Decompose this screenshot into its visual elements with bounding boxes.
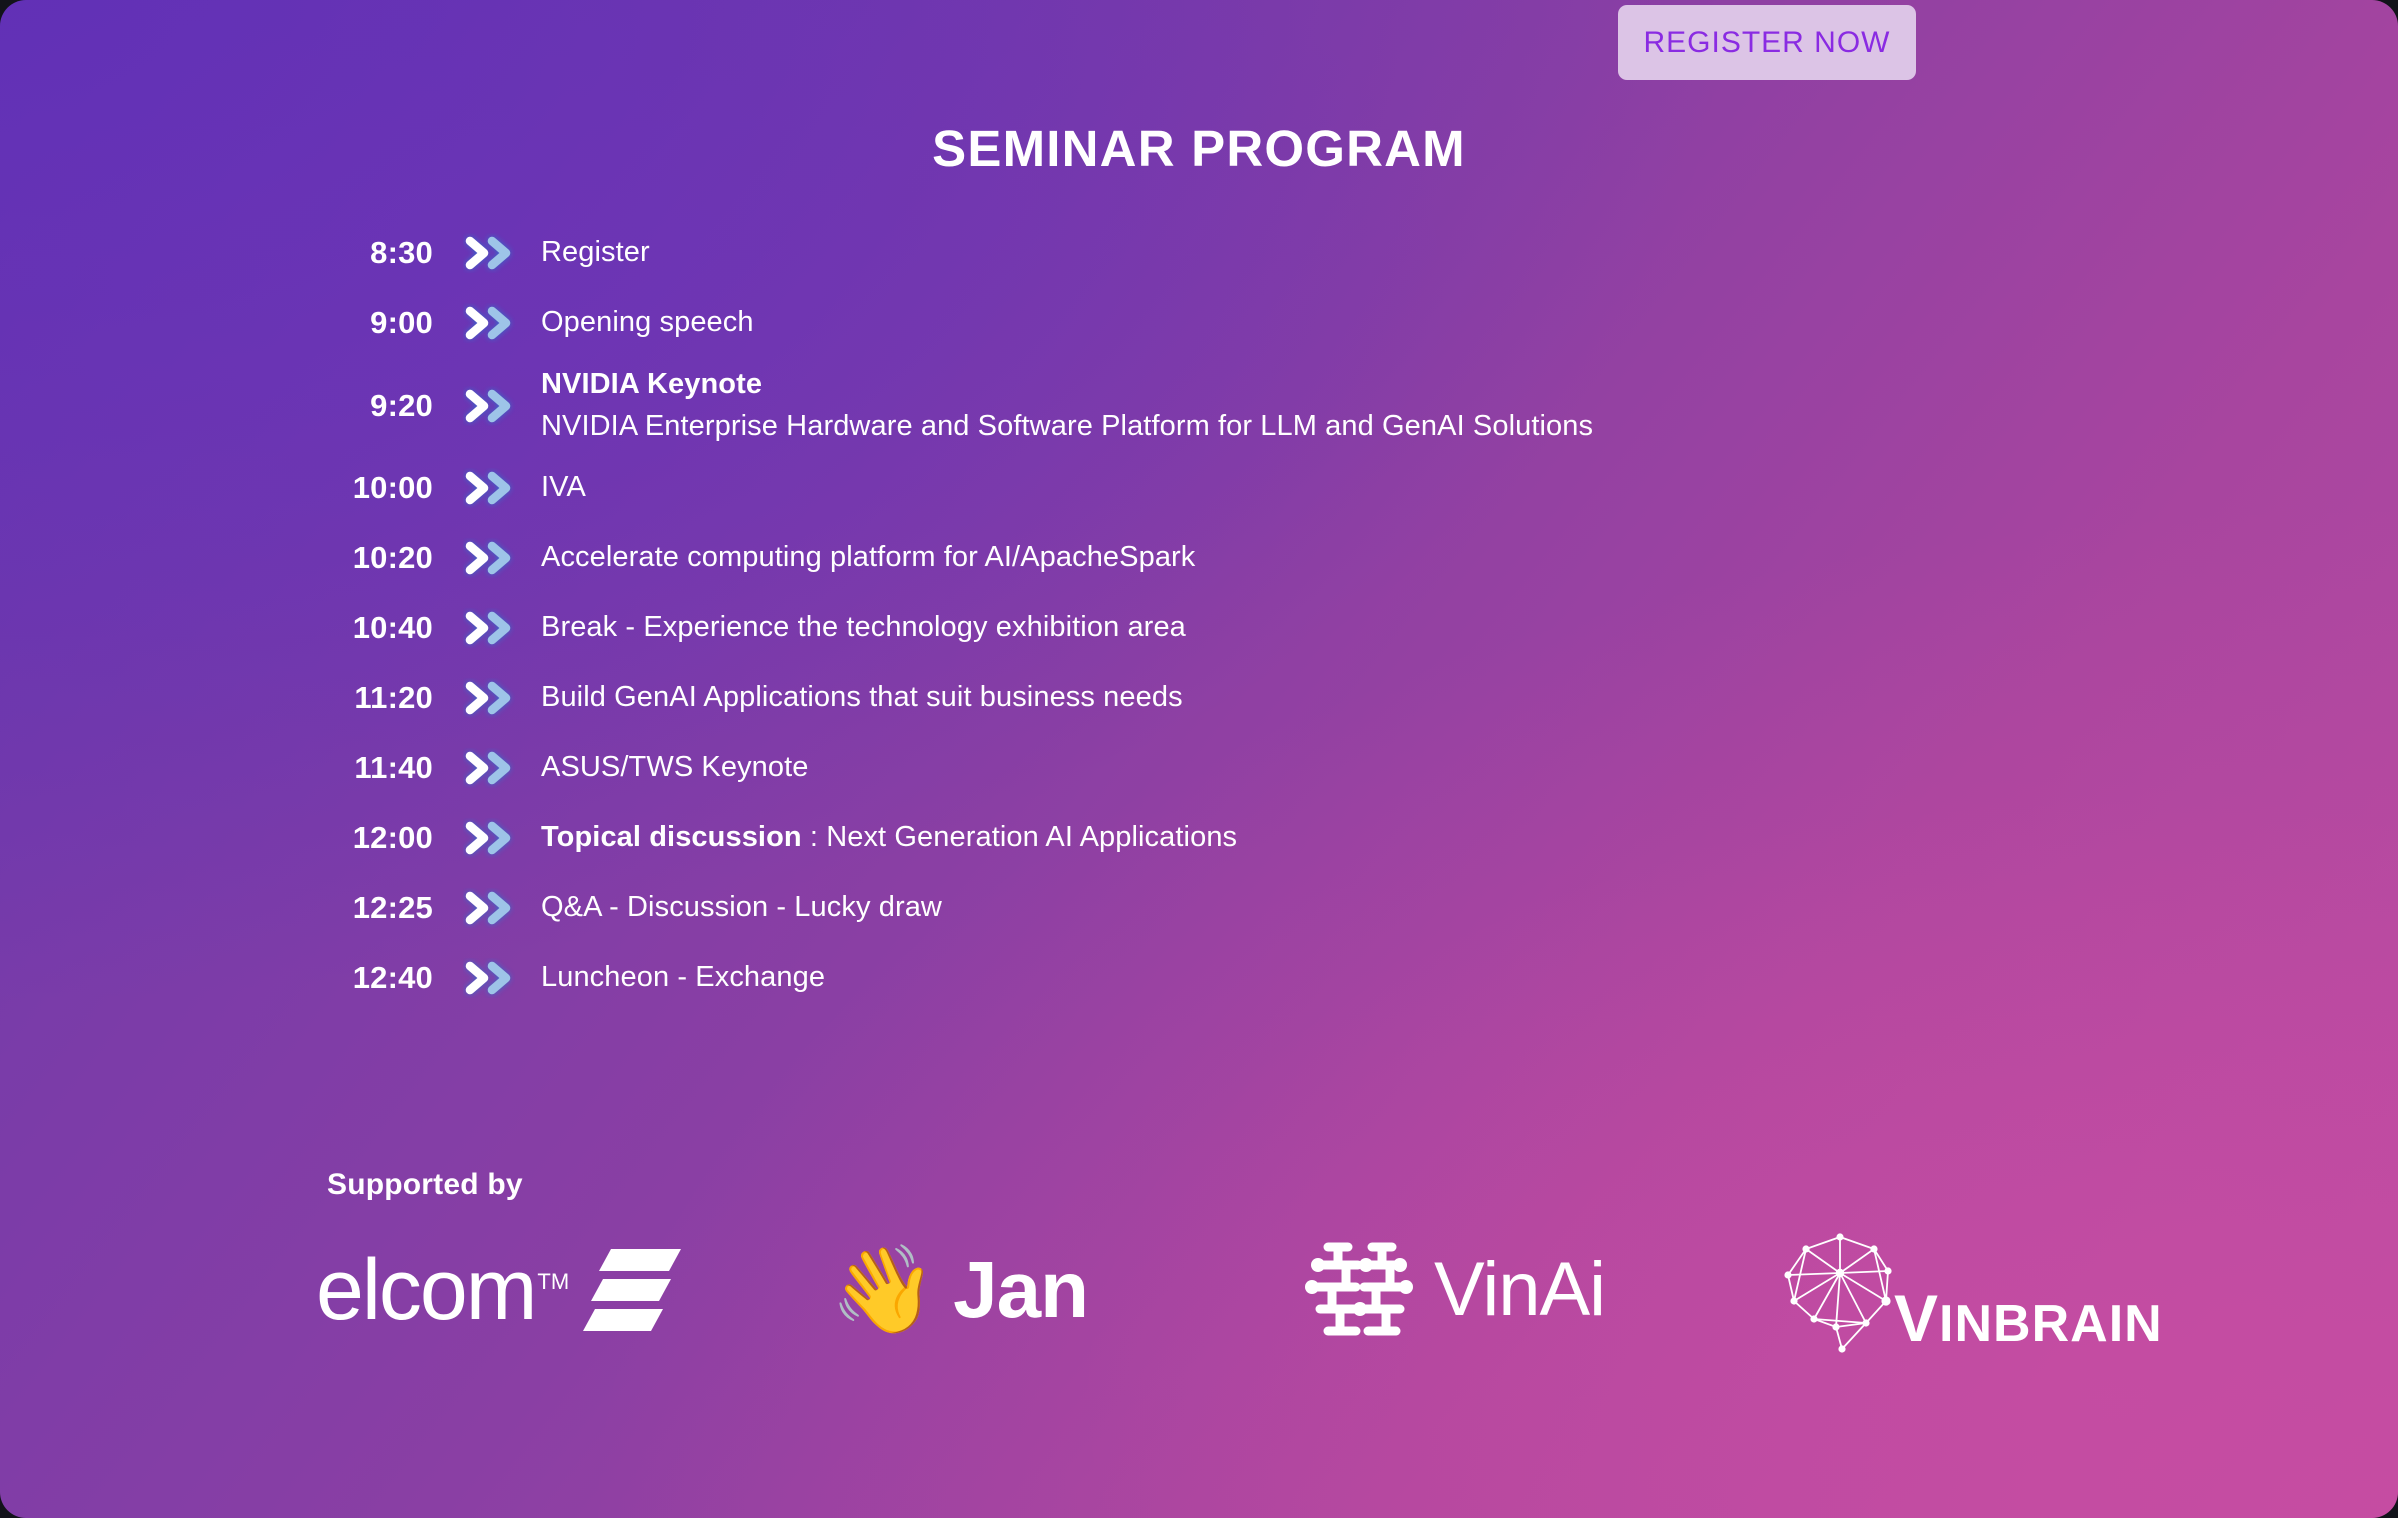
waving-hand-icon: 👋: [830, 1247, 937, 1333]
schedule-row-time: 10:40: [325, 610, 433, 646]
schedule-row: 12:00Topical discussion : Next Generatio…: [0, 803, 2398, 873]
schedule-row: 10:40Break - Experience the technology e…: [0, 593, 2398, 663]
logo-vinai[interactable]: VinAi: [1280, 1225, 1760, 1355]
register-now-button[interactable]: REGISTER NOW: [1618, 5, 1916, 80]
schedule-row-description: Topical discussion : Next Generation AI …: [541, 817, 1237, 858]
schedule-row-description: Register: [541, 232, 650, 273]
schedule-row-description: IVA: [541, 467, 586, 508]
elcom-e-icon: [583, 1247, 683, 1338]
sponsor-logos: elcomTM 👋 Jan: [300, 1220, 2200, 1360]
schedule-row-title: Q&A - Discussion - Lucky draw: [541, 891, 942, 923]
logo-vinbrain[interactable]: VINBRAIN: [1760, 1225, 2200, 1355]
schedule-row-title: Build GenAI Applications that suit busin…: [541, 681, 1183, 713]
logo-elcom[interactable]: elcomTM: [300, 1225, 800, 1355]
double-chevron-right-icon: [451, 538, 527, 578]
supported-by-label: Supported by: [327, 1168, 523, 1202]
double-chevron-right-icon: [451, 386, 527, 426]
schedule-row-description: ASUS/TWS Keynote: [541, 747, 809, 788]
schedule-row: 12:25Q&A - Discussion - Lucky draw: [0, 873, 2398, 943]
vinai-circuit-icon: [1300, 1233, 1420, 1348]
schedule-row: 10:00IVA: [0, 453, 2398, 523]
schedule-row-title: ASUS/TWS Keynote: [541, 751, 809, 783]
vinai-wordmark: VinAi: [1434, 1252, 1605, 1328]
schedule-row: 12:40Luncheon - Exchange: [0, 943, 2398, 1013]
double-chevron-right-icon: [451, 958, 527, 998]
schedule-row-description: Opening speech: [541, 302, 754, 343]
schedule-row-time: 12:00: [325, 820, 433, 856]
double-chevron-right-icon: [451, 748, 527, 788]
schedule-row: 9:20NVIDIA KeynoteNVIDIA Enterprise Hard…: [0, 358, 2398, 453]
schedule-row-time: 10:00: [325, 470, 433, 506]
seminar-program-page: REGISTER NOW SEMINAR PROGRAM 8:30Registe…: [0, 0, 2398, 1518]
schedule-row-description: Break - Experience the technology exhibi…: [541, 607, 1186, 648]
trademark-icon: TM: [537, 1269, 569, 1294]
schedule-row-time: 11:20: [325, 680, 433, 716]
schedule-row-title: Luncheon - Exchange: [541, 961, 825, 993]
schedule-row: 9:00Opening speech: [0, 288, 2398, 358]
schedule-row-description: Luncheon - Exchange: [541, 957, 825, 998]
double-chevron-right-icon: [451, 818, 527, 858]
double-chevron-right-icon: [451, 303, 527, 343]
schedule-row-title: IVA: [541, 471, 586, 503]
schedule-row-bold-prefix: Topical discussion: [541, 821, 802, 853]
schedule-row-description: Accelerate computing platform for AI/Apa…: [541, 537, 1195, 578]
vinbrain-wordmark: VINBRAIN: [1894, 1285, 2163, 1351]
double-chevron-right-icon: [451, 608, 527, 648]
double-chevron-right-icon: [451, 233, 527, 273]
schedule-row-title: NVIDIA Keynote: [541, 364, 1593, 405]
schedule-row-subtitle: NVIDIA Enterprise Hardware and Software …: [541, 406, 1593, 447]
schedule-row-title: Accelerate computing platform for AI/Apa…: [541, 541, 1195, 573]
schedule-row-rest: : Next Generation AI Applications: [802, 821, 1237, 853]
schedule-row-time: 12:25: [325, 890, 433, 926]
double-chevron-right-icon: [451, 468, 527, 508]
schedule-row-time: 12:40: [325, 960, 433, 996]
schedule-row: 11:20Build GenAI Applications that suit …: [0, 663, 2398, 733]
double-chevron-right-icon: [451, 678, 527, 718]
schedule-list: 8:30Register9:00Opening speech9:20NVIDIA…: [0, 218, 2398, 1013]
schedule-row-time: 8:30: [325, 235, 433, 271]
schedule-row-description: Q&A - Discussion - Lucky draw: [541, 887, 942, 928]
double-chevron-right-icon: [451, 888, 527, 928]
schedule-row-title: Opening speech: [541, 306, 754, 338]
schedule-row-time: 9:20: [325, 388, 433, 424]
schedule-row-description: NVIDIA KeynoteNVIDIA Enterprise Hardware…: [541, 364, 1593, 446]
schedule-row-description: Build GenAI Applications that suit busin…: [541, 677, 1183, 718]
schedule-row-time: 9:00: [325, 305, 433, 341]
schedule-row: 10:20Accelerate computing platform for A…: [0, 523, 2398, 593]
elcom-wordmark: elcomTM: [316, 1247, 569, 1333]
schedule-row: 11:40ASUS/TWS Keynote: [0, 733, 2398, 803]
schedule-row-title: Register: [541, 236, 650, 268]
logo-jan[interactable]: 👋 Jan: [800, 1225, 1280, 1355]
schedule-row-title: Break - Experience the technology exhibi…: [541, 611, 1186, 643]
schedule-row-time: 11:40: [325, 750, 433, 786]
page-title: SEMINAR PROGRAM: [0, 119, 2398, 178]
jan-wordmark: Jan: [953, 1250, 1088, 1330]
schedule-row-time: 10:20: [325, 540, 433, 576]
schedule-row: 8:30Register: [0, 218, 2398, 288]
